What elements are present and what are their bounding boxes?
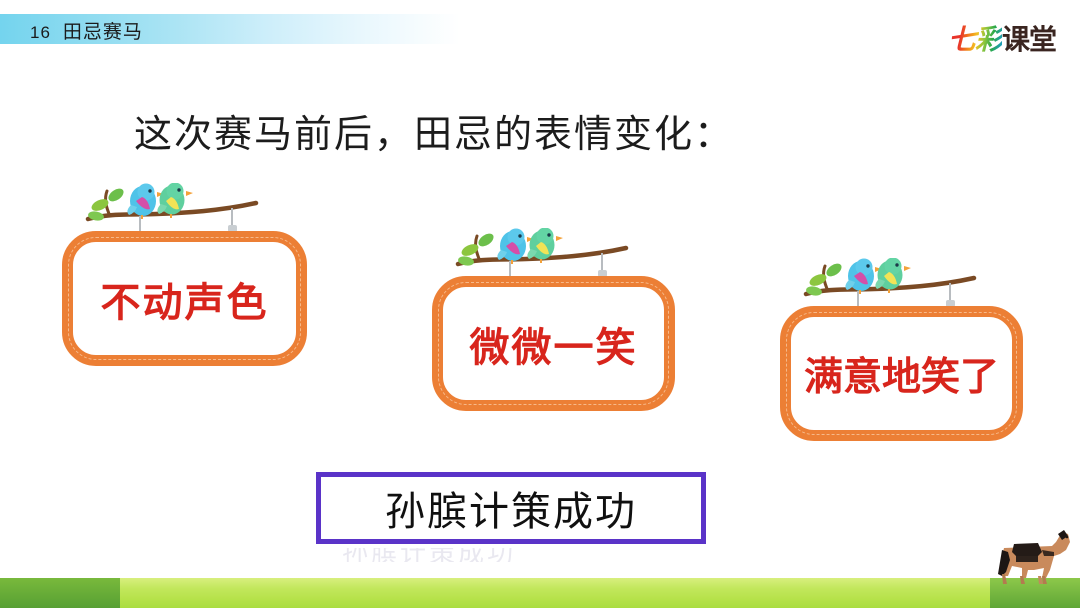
sign-label-3: 满意地笑了 [804, 346, 999, 402]
main-heading: 这次赛马前后，田忌的表情变化： [134, 103, 734, 158]
ghost-text-artifact: 孙膑计策成功 [342, 548, 516, 562]
conclusion-label: 孙膑计策成功 [385, 479, 637, 537]
lesson-number: 16 [30, 23, 51, 42]
brand-logo-dark: 课堂 [1002, 24, 1056, 55]
slide-canvas: 16田忌赛马 七彩课堂 这次赛马前后，田忌的表情变化： [0, 0, 1080, 608]
sign-frame-2: 微微一笑 [432, 276, 675, 411]
grass-strip [0, 578, 1080, 608]
page-title: 16田忌赛马 [30, 17, 143, 44]
lesson-title: 田忌赛马 [63, 22, 143, 43]
sign-frame-1: 不动声色 [62, 231, 307, 366]
horse-icon [990, 526, 1076, 590]
brand-logo-rainbow: 七彩 [948, 24, 1002, 55]
conclusion-box: 孙膑计策成功 [316, 472, 706, 544]
sign-label-1: 不动声色 [101, 270, 269, 328]
brand-logo: 七彩课堂 [948, 18, 1056, 58]
sign-label-2: 微微一笑 [470, 315, 638, 373]
sign-frame-3: 满意地笑了 [780, 306, 1023, 441]
